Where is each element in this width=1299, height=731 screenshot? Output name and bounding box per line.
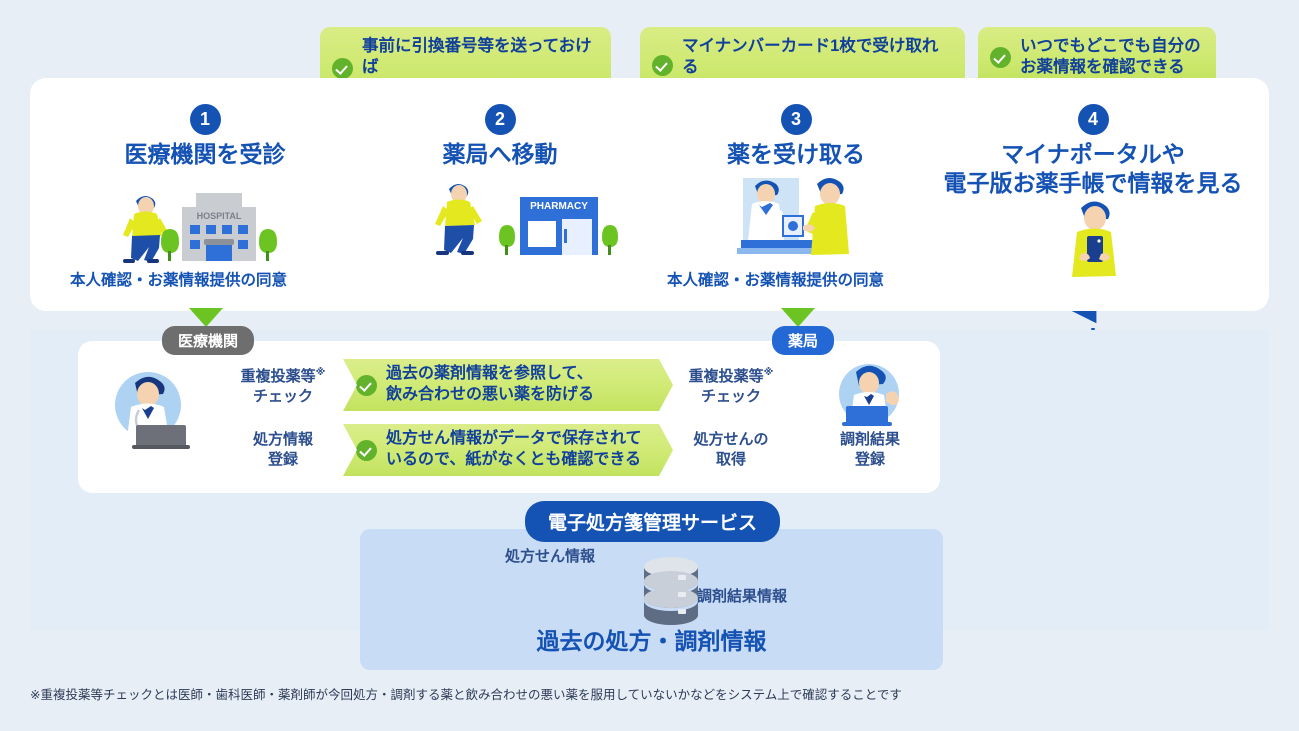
footnote: ※重複投薬等チェックとは医師・歯科医師・薬剤師が今回処方・調剤する薬と飲み合わせ…	[30, 684, 902, 703]
down-arrow-hospital	[189, 308, 223, 327]
step-1-consent: 本人確認・お薬情報提供の同意	[70, 268, 287, 290]
label-prescription-fetch: 処方せんの 取得	[676, 430, 786, 470]
infographic-root: 事前に引換番号等を送っておけば 受け取り時間を省略できる マイナンバーカード1枚…	[0, 0, 1299, 731]
step-3-consent: 本人確認・お薬情報提供の同意	[667, 268, 884, 290]
badge-pharmacy: 薬局	[772, 326, 834, 355]
step-title: 薬を受け取る	[690, 140, 902, 169]
service-title: 過去の処方・調剤情報	[360, 622, 943, 656]
mid-callout-1: 過去の薬剤情報を参照して、 飲み合わせの悪い薬を防げる	[343, 359, 673, 411]
database-icon	[640, 556, 702, 628]
step-number: 3	[781, 104, 812, 135]
service-badge: 電子処方箋管理サービス	[525, 501, 780, 542]
flow-label-dispense: 調剤結果情報	[697, 585, 787, 606]
step-3: 3 薬を受け取る	[690, 104, 902, 169]
check-icon	[356, 375, 377, 396]
step-title-line2: 電子版お薬手帳で情報を見る	[940, 169, 1246, 198]
check-icon	[332, 58, 353, 79]
step-title: マイナポータルや	[940, 140, 1246, 169]
pharmacy-illustration: PHARMACY	[425, 175, 630, 265]
down-arrow-pharmacy	[781, 308, 815, 327]
step-2: 2 薬局へ移動	[400, 104, 600, 169]
hospital-sign: HOSPITAL	[197, 211, 242, 221]
step-number: 2	[485, 104, 516, 135]
pharmacist-illustration	[828, 358, 910, 436]
hospital-illustration: HOSPITAL	[100, 185, 310, 265]
pharmacist-handover-illustration	[725, 172, 875, 264]
badge-hospital: 医療機関	[162, 326, 254, 355]
pharmacy-sign: PHARMACY	[530, 201, 588, 212]
mid-callout-2: 処方せん情報がデータで保存されて いるので、紙がなくとも確認できる	[343, 424, 673, 476]
doctor-illustration	[103, 365, 193, 451]
smartphone-user-illustration	[1055, 196, 1135, 282]
step-title: 薬局へ移動	[400, 140, 600, 169]
check-icon	[990, 47, 1011, 68]
step-number: 1	[190, 104, 221, 135]
check-icon	[356, 440, 377, 461]
mid-callout-text: 過去の薬剤情報を参照して、 飲み合わせの悪い薬を防げる	[386, 364, 594, 406]
callout-text: いつでもどこでも自分の お薬情報を確認できる	[1020, 36, 1201, 79]
step-title: 医療機関を受診	[95, 140, 315, 169]
label-prescription-register: 処方情報 登録	[228, 430, 338, 470]
step-1: 1 医療機関を受診	[95, 104, 315, 169]
mid-callout-text: 処方せん情報がデータで保存されて いるので、紙がなくとも確認できる	[386, 429, 642, 471]
label-dispense-register: 調剤結果 登録	[820, 430, 920, 470]
step-number: 4	[1078, 104, 1109, 135]
flow-label-prescription: 処方せん情報	[505, 545, 595, 566]
label-duplicate-check-hospital: 重複投薬等※ チェック	[228, 366, 338, 407]
step-4: 4 マイナポータルや 電子版お薬手帳で情報を見る	[940, 104, 1246, 197]
label-duplicate-check-pharmacy: 重複投薬等※ チェック	[676, 366, 786, 407]
check-icon	[652, 55, 673, 76]
